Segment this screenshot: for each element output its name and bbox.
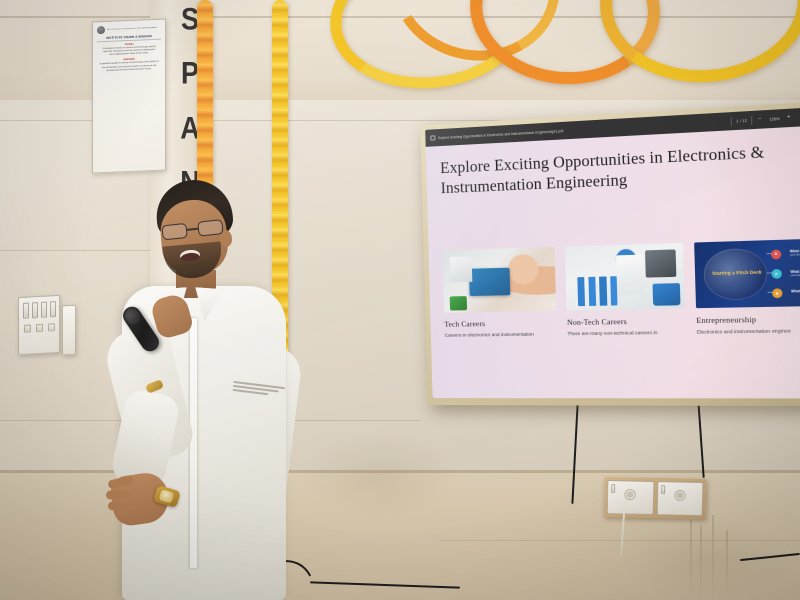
toolbar-center-group: 1 / 12 − 125% + (731, 113, 793, 125)
light-switch[interactable] (23, 303, 29, 319)
bullet-marker: B (772, 289, 783, 299)
glasses-bridge (187, 228, 198, 231)
light-switch[interactable] (32, 302, 38, 318)
card-title: Tech Careers (444, 318, 556, 329)
power-socket[interactable] (656, 481, 703, 516)
card-description: There are many non-technical careers in (567, 330, 686, 338)
marigold-garland-vertical (197, 0, 213, 200)
room-scene: S P A N INSTITUTE OF TECHNOLOGY AND MANA… (0, 0, 800, 600)
wall-drip (700, 525, 702, 600)
sidebar-toggle-icon[interactable] (430, 135, 435, 140)
display-screen[interactable]: Explore Exciting Opportunities in Electr… (425, 107, 800, 399)
zoom-in-button[interactable]: + (785, 115, 792, 121)
bullet-marker: P (771, 269, 782, 279)
pdf-slide: Explore Exciting Opportunities in Electr… (426, 125, 800, 398)
bullet-sub: potential market and strategy (790, 273, 800, 278)
light-switch-small[interactable] (36, 324, 43, 332)
chemistry-lab-photo (565, 243, 685, 311)
light-switch-small[interactable] (24, 324, 31, 332)
glasses-lens-right (197, 219, 223, 237)
bullet-title: What is your big answer (791, 288, 800, 293)
light-switch-small[interactable] (48, 323, 55, 331)
bullet-label: What is your big answer (791, 288, 800, 293)
wall-drip (690, 520, 692, 600)
toolbar-divider (751, 116, 752, 125)
card-description: Careers in electronics and instrumentati… (445, 331, 557, 339)
bullet-sub: your idea and your vision? (790, 253, 800, 258)
zoom-out-button[interactable]: − (757, 117, 764, 123)
pdf-filename: Explore Exciting Opportunities in Electr… (438, 129, 563, 140)
electronics-lab-photo (442, 247, 556, 313)
slide-title: Explore Exciting Opportunities in Electr… (440, 141, 794, 200)
light-switch[interactable] (50, 301, 56, 317)
glasses-lens-left (161, 223, 187, 241)
page-indicator: 1 / 12 (736, 118, 747, 123)
power-socket-panel[interactable] (604, 477, 707, 519)
career-cards: Tech Careers Careers in electronics and … (442, 238, 800, 339)
wall-stain (300, 430, 460, 520)
poster-header: INSTITUTE OF TECHNOLOGY AND MANAGEMENT (97, 24, 161, 35)
socket-switch[interactable] (661, 485, 665, 494)
light-switch-panel[interactable] (18, 295, 60, 355)
pitch-deck-infographic: Starting a Pitch Deck A P B What is your… (694, 238, 800, 308)
flask-icon (653, 283, 680, 306)
poster-vision-text: A foundation institution to nurture and … (97, 46, 161, 58)
switch-row-bottom (22, 317, 56, 333)
toolbar-divider (731, 117, 732, 126)
vision-mission-poster: INSTITUTE OF TECHNOLOGY AND MANAGEMENT I… (92, 18, 166, 173)
poster-mission-text: To generate capable in science and techn… (97, 61, 161, 73)
institute-logo-icon (97, 26, 105, 34)
circuit-board-icon (449, 296, 467, 310)
zoom-level: 125% (768, 116, 781, 121)
card-description: Electronics and instrumentation enginee (697, 327, 800, 336)
poster-institution-name: INSTITUTE OF TECHNOLOGY AND MANAGEMENT (107, 26, 161, 31)
microscope-icon (645, 250, 677, 278)
switch-row-top (22, 301, 56, 319)
bullet-label: What is the size potential market and st… (790, 268, 800, 277)
wall-drip (712, 515, 714, 600)
shirt-placket (190, 318, 197, 568)
wall-drip (726, 530, 728, 600)
wall-mounted-display[interactable]: Explore Exciting Opportunities in Electr… (420, 101, 800, 406)
bullet-label: What is your idea and your vision? (790, 248, 800, 257)
presenter-finger (106, 489, 131, 500)
infographic-heading: Starting a Pitch Deck (712, 270, 762, 277)
card-title: Non-Tech Careers (567, 316, 686, 327)
card-entrepreneurship: Starting a Pitch Deck A P B What is your… (694, 238, 800, 336)
bullet-marker: A (771, 249, 782, 259)
light-switch[interactable] (41, 302, 47, 318)
socket-switch[interactable] (611, 484, 615, 493)
presenter-finger (108, 501, 131, 512)
presenter (60, 178, 290, 600)
card-title: Entrepreneurship (696, 313, 800, 325)
card-non-tech-careers: Non-Tech Careers There are many non-tech… (565, 243, 686, 338)
wall-stain (620, 520, 800, 600)
card-tech-careers: Tech Careers Careers in electronics and … (442, 247, 557, 339)
power-socket[interactable] (607, 480, 654, 515)
